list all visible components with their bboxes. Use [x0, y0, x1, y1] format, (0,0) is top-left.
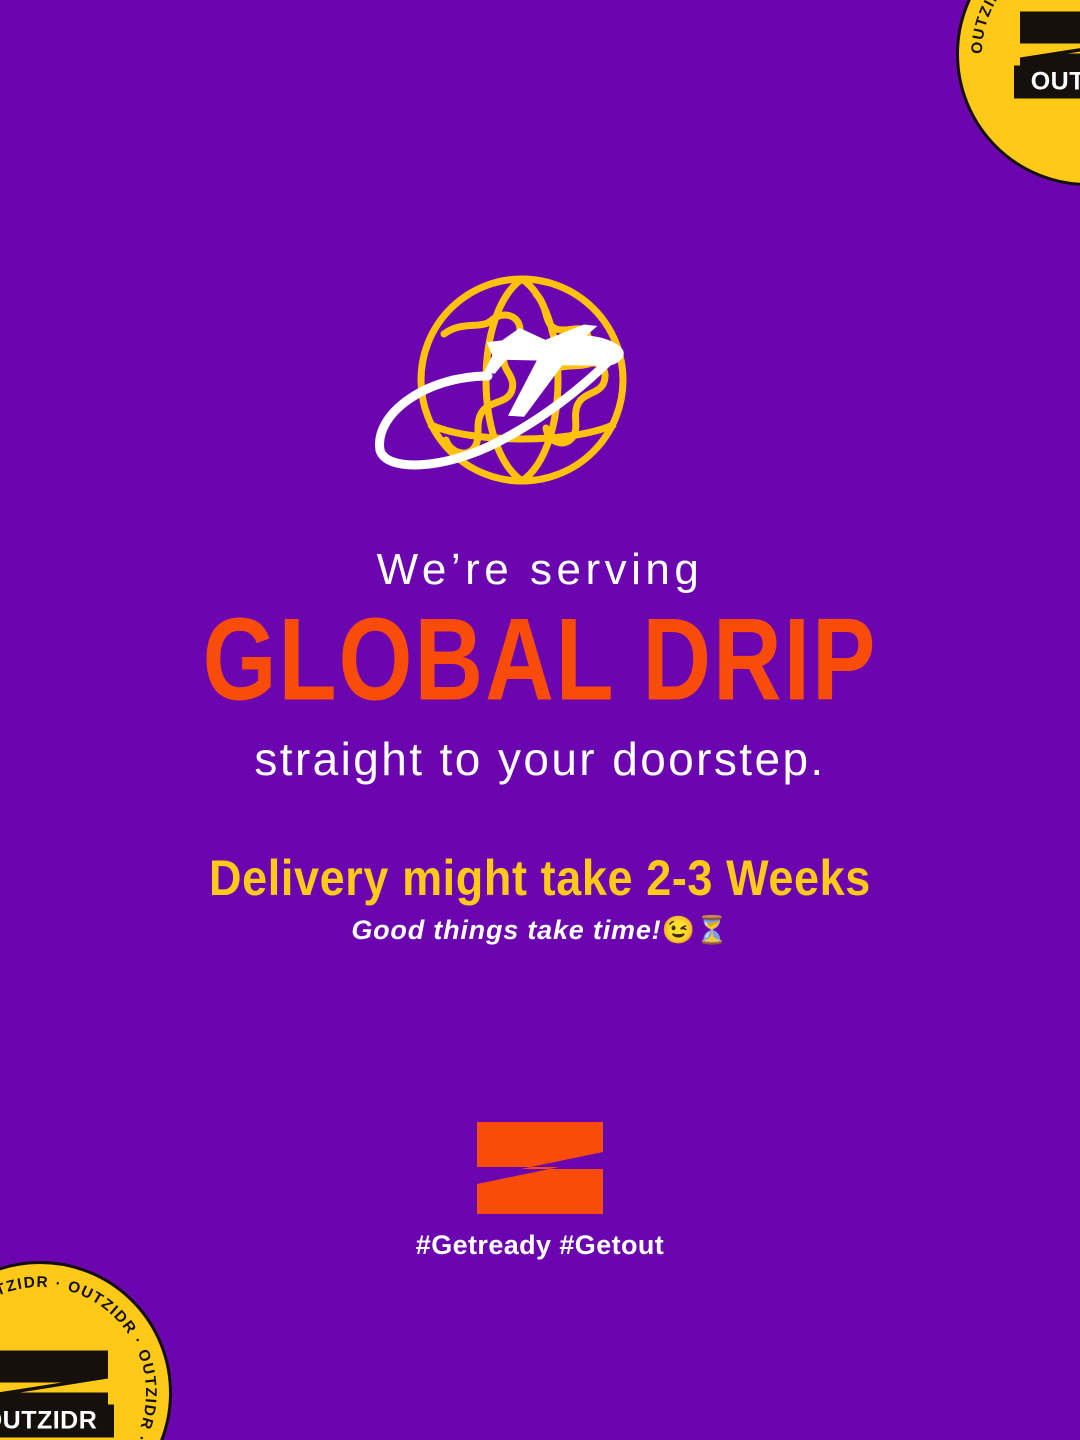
- wink-face-icon: 😉: [661, 915, 695, 945]
- headline-text: GLOBAL DRIP: [5, 602, 1074, 719]
- brand-stamp-top-right: OUTZIDR · OUTZIDR · OUTZIDR · OUTZIDR · …: [956, 0, 1080, 186]
- hashtags-text: #Getready #Getout: [0, 1230, 1080, 1261]
- footer-block: #Getready #Getout: [0, 1122, 1080, 1261]
- stamp-brand-name: OUTZIDR: [1014, 66, 1080, 99]
- brand-z-logo-icon: [477, 1122, 603, 1214]
- quip-text: Good things take time!: [351, 915, 661, 945]
- copy-block: We’re serving GLOBAL DRIP straight to yo…: [0, 546, 1080, 945]
- eyebrow-text: We’re serving: [0, 546, 1080, 594]
- promo-poster: OUTZIDR · OUTZIDR · OUTZIDR · OUTZIDR · …: [0, 0, 1080, 1440]
- delivery-notice-text: Delivery might take 2-3 Weeks: [0, 850, 1080, 905]
- hero-icon-container: [0, 272, 1080, 504]
- globe-with-airplane-icon: [370, 272, 710, 504]
- subheadline-text: straight to your doorstep.: [0, 734, 1080, 785]
- hourglass-icon: ⏳: [695, 915, 729, 945]
- stamp-brand-name: OUTZIDR: [0, 1405, 114, 1438]
- stamp-core: OUTZIDR: [0, 1349, 114, 1438]
- quip-line: Good things take time!😉⏳: [0, 916, 1080, 946]
- stamp-core: OUTZIDR: [1014, 10, 1080, 99]
- brand-stamp-bottom-left: OUTZIDR · OUTZIDR · OUTZIDR · OUTZIDR · …: [0, 1261, 172, 1440]
